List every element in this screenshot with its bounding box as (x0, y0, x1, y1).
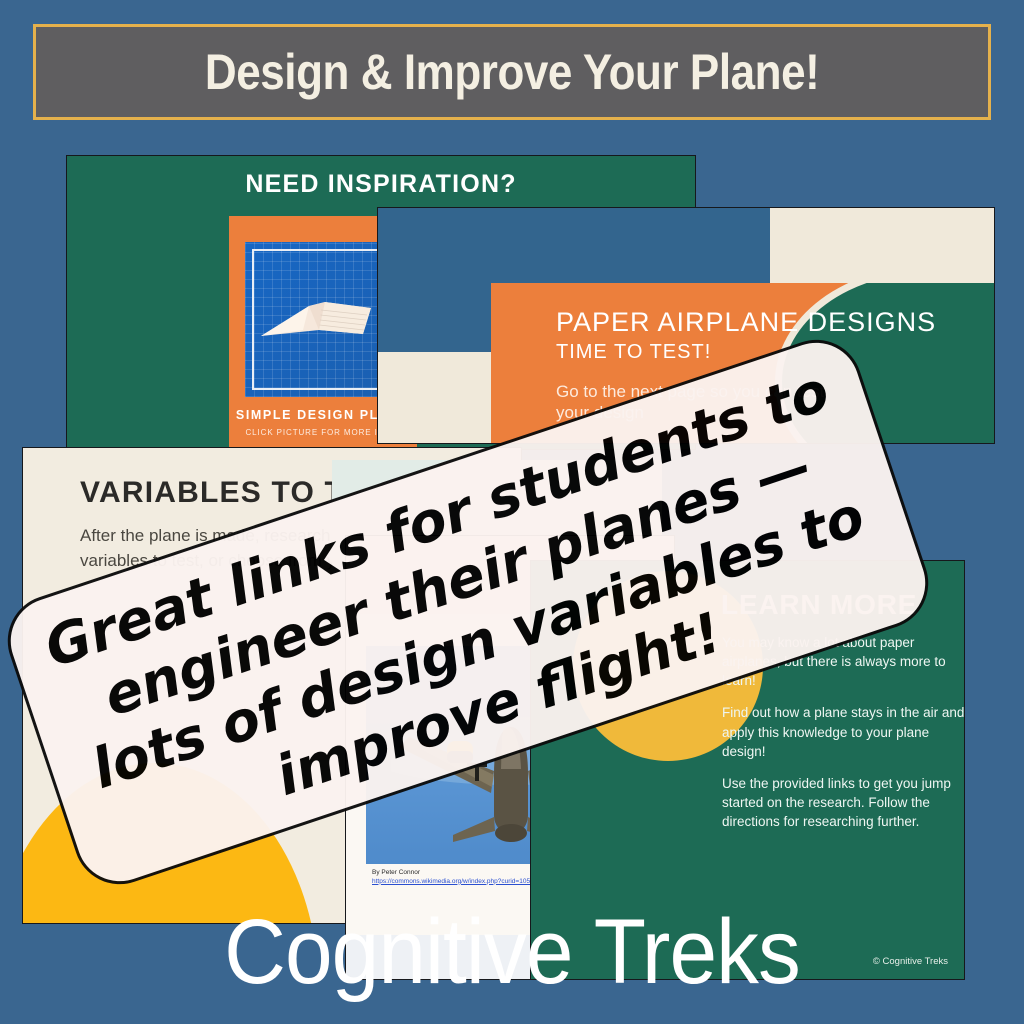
brand-name: Cognitive Treks (36, 900, 988, 1005)
designs-subheading: TIME TO TEST! (556, 341, 711, 364)
inspiration-title: NEED INSPIRATION? (67, 170, 695, 199)
header-banner: Design & Improve Your Plane! (33, 24, 991, 120)
learn-paragraph-2: Find out how a plane stays in the air an… (722, 703, 965, 760)
paper-plane-icon (259, 286, 383, 348)
page-title: Design & Improve Your Plane! (205, 43, 819, 101)
learn-paragraph-3: Use the provided links to get you jump s… (722, 774, 965, 831)
slide-collage: NEED INSPIRATION? SIMPLE DESIG (0, 130, 1024, 920)
photo-credit-author: By Peter Connor (372, 869, 552, 878)
photo-credit: By Peter Connor https://commons.wikimedi… (372, 869, 552, 887)
photo-credit-link[interactable]: https://commons.wikimedia.org/w/index.ph… (372, 878, 552, 885)
designs-heading: PAPER AIRPLANE DESIGNS (556, 307, 936, 338)
